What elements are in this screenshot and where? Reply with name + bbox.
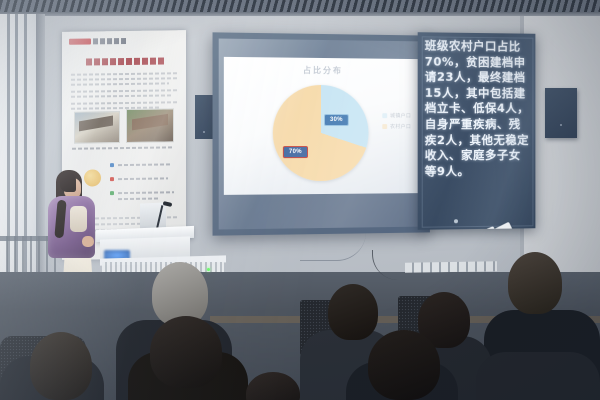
wall-outlet-strip bbox=[405, 261, 497, 273]
poster-bullet-marker bbox=[110, 163, 114, 167]
attendee-head bbox=[508, 252, 562, 314]
poster-bullet-marker bbox=[110, 177, 114, 181]
wall-speaker-right-led bbox=[560, 124, 562, 126]
poster-logo-mark bbox=[69, 38, 91, 44]
presenter-collar bbox=[70, 206, 87, 232]
panel-glare bbox=[418, 32, 536, 230]
attendee-head bbox=[328, 284, 378, 340]
poster-photo-house-b bbox=[126, 108, 174, 143]
poster-title bbox=[86, 57, 164, 65]
projector-screen: 占比分布 30% 70% 城镇户口 农村户口 bbox=[213, 32, 430, 235]
poster-bullet-marker bbox=[110, 191, 114, 195]
presentation-room-photo: 占比分布 30% 70% 城镇户口 农村户口 班级农村户口占比 70%，贫困建档… bbox=[0, 0, 600, 400]
wall-speaker-right bbox=[545, 88, 577, 138]
poster-photo-house-a bbox=[74, 111, 120, 144]
wall-speaker-left-led bbox=[203, 131, 205, 133]
poster-caption bbox=[72, 146, 172, 149]
poster-seal-badge bbox=[84, 169, 101, 186]
attendee-head bbox=[368, 330, 440, 400]
attendee-shoulders bbox=[476, 352, 600, 400]
dark-text-display-panel: 班级农村户口占比 70%，贫困建档申 请23人，最终建档 15人，其中包括建 档… bbox=[418, 32, 536, 230]
screen-glare bbox=[219, 39, 424, 230]
presenter-hand bbox=[82, 236, 94, 247]
poster-logo-text bbox=[93, 38, 127, 44]
presenter-hair-front bbox=[60, 172, 76, 192]
status-led-icon bbox=[207, 268, 210, 271]
attendee-head bbox=[30, 332, 92, 400]
attendee-head bbox=[150, 316, 222, 388]
